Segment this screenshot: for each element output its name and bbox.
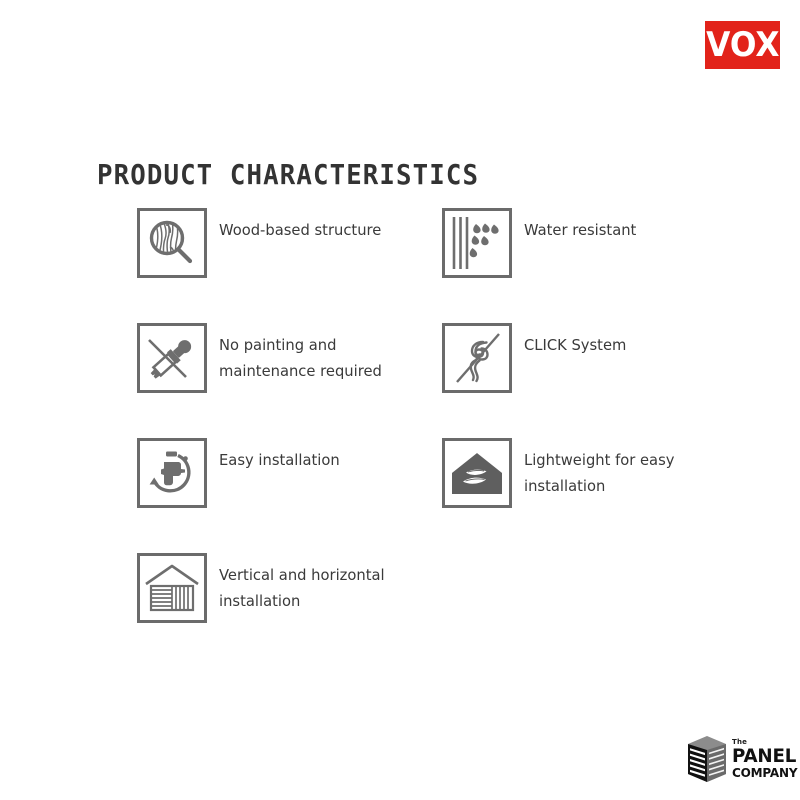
vox-logo-text: VOX: [706, 28, 779, 62]
stacked-panels-block-icon: [686, 734, 728, 784]
feature-item-vertical-horizontal-installation: Vertical and horizontal installation: [137, 553, 393, 623]
footer-logo-panel: PANEL: [732, 747, 797, 766]
page-title: PRODUCT CHARACTERISTICS: [97, 158, 479, 191]
wood-grain-magnifier-icon: [137, 208, 207, 278]
house-panels-orientation-icon: [137, 553, 207, 623]
paintbrush-crossed-out-icon: [137, 323, 207, 393]
water-droplets-panel-icon: [442, 208, 512, 278]
feature-item-no-painting-required: No painting and maintenance required: [137, 323, 390, 393]
feature-label: Vertical and horizontal installation: [219, 553, 385, 614]
feature-item-lightweight: Lightweight for easy installation: [442, 438, 682, 508]
feature-label: Lightweight for easy installation: [524, 438, 674, 499]
panel-company-footer-logo: The PANEL COMPANY: [686, 733, 784, 785]
feature-item-click-system: CLICK System: [442, 323, 632, 393]
feature-item-easy-installation: Easy installation: [137, 438, 346, 508]
footer-logo-wordmark: The PANEL COMPANY: [732, 739, 800, 780]
house-feathers-icon: [442, 438, 512, 508]
drill-rotation-icon: [137, 438, 207, 508]
feature-label: CLICK System: [524, 323, 626, 358]
feature-label: Wood-based structure: [219, 208, 381, 243]
feature-label: No painting and maintenance required: [219, 323, 382, 384]
feature-label: Easy installation: [219, 438, 340, 473]
feature-item-water-resistant: Water resistant: [442, 208, 642, 278]
feature-label: Water resistant: [524, 208, 636, 243]
vox-brand-logo: VOX: [705, 21, 780, 69]
footer-logo-company: COMPANY: [732, 767, 797, 780]
click-joint-profile-icon: [442, 323, 512, 393]
feature-item-wood-based-structure: Wood-based structure: [137, 208, 390, 278]
